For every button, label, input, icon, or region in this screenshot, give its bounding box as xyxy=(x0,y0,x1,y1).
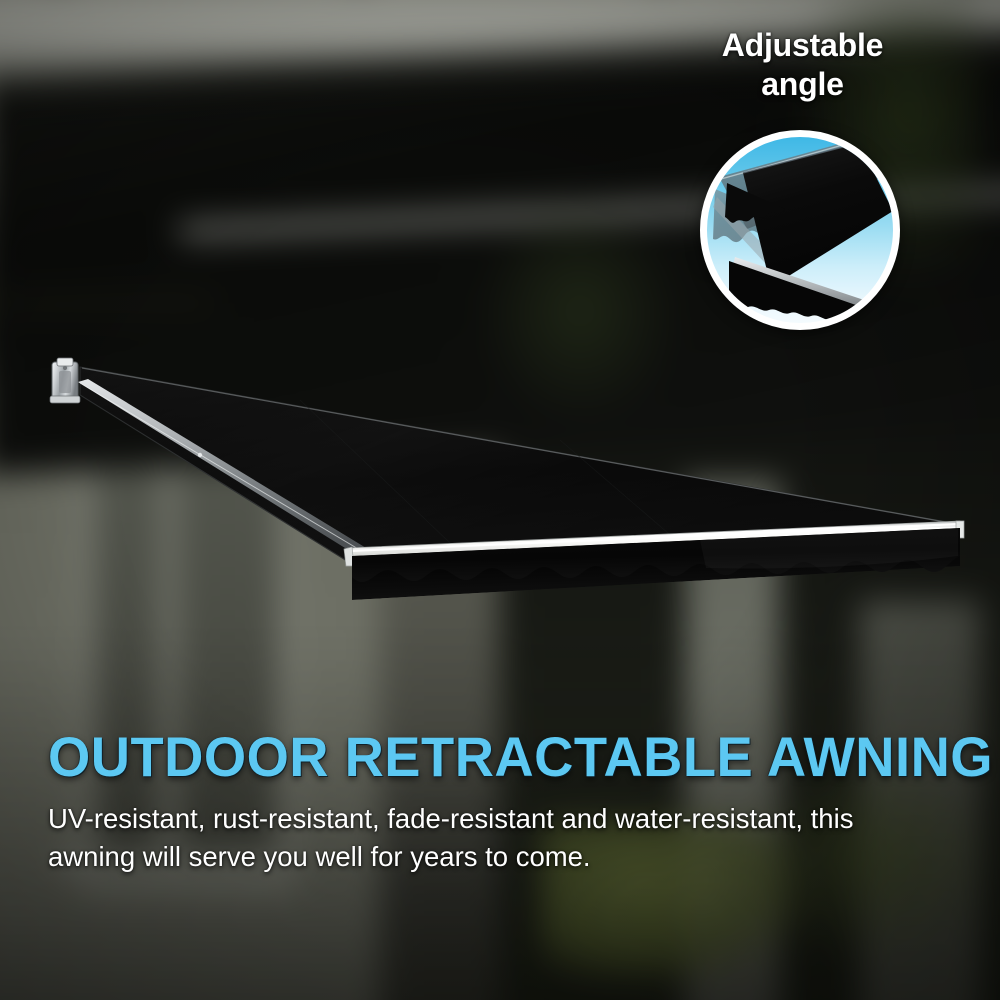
adjustable-angle-detail-circle xyxy=(700,130,900,330)
bracket-bolt xyxy=(63,366,67,370)
callout-line-2: angle xyxy=(690,65,915,104)
bracket-inner-channel xyxy=(59,371,71,393)
bracket-top-cap xyxy=(57,358,73,366)
bracket-base-plate xyxy=(50,396,80,403)
solid-valance-lower xyxy=(729,261,879,323)
adjustable-angle-label: Adjustable angle xyxy=(690,26,915,104)
support-arm-joint xyxy=(198,453,202,457)
marketing-copy-block: OUTDOOR RETRACTABLE AWNING UV-resistant,… xyxy=(48,728,958,876)
page-title: OUTDOOR RETRACTABLE AWNING xyxy=(48,728,931,786)
product-description: UV-resistant, rust-resistant, fade-resis… xyxy=(48,800,928,876)
callout-line-1: Adjustable xyxy=(690,26,915,65)
wall-mount-bracket xyxy=(50,358,80,403)
product-banner: Adjustable angle OUTDOOR RETRACTABLE AWN… xyxy=(0,0,1000,1000)
detail-circle-illustration xyxy=(707,137,893,323)
